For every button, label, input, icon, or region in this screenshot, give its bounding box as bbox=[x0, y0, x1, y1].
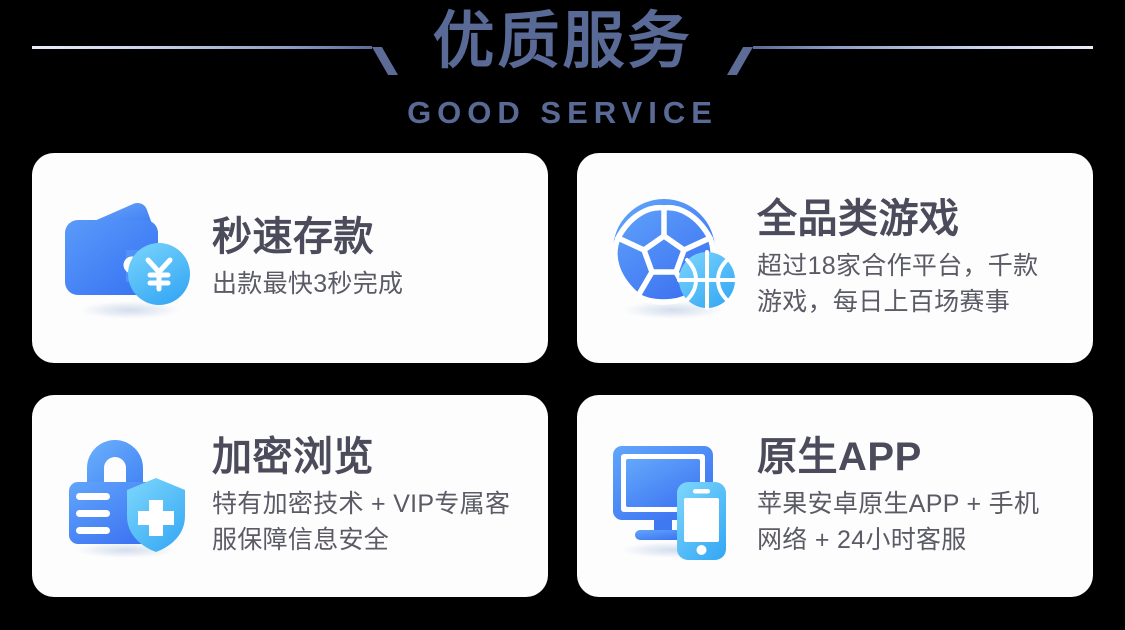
header: 优质服务 GOOD SERVICE bbox=[0, 0, 1125, 150]
feature-card-deposit[interactable]: 秒速存款 出款最快3秒完成 bbox=[32, 153, 548, 363]
promo-banner: 优质服务 GOOD SERVICE bbox=[0, 0, 1125, 630]
page-title: 优质服务 bbox=[0, 6, 1125, 77]
card-text-native-app: 原生APP 苹果安卓原生APP + 手机 网络 + 24小时客服 bbox=[757, 434, 1075, 558]
card-description: 出款最快3秒完成 bbox=[212, 267, 530, 303]
soccer-basketball-icon bbox=[605, 192, 743, 324]
card-description-line: 出款最快3秒完成 bbox=[212, 267, 530, 303]
card-title: 秒速存款 bbox=[212, 214, 530, 261]
card-text-games: 全品类游戏 超过18家合作平台，千款 游戏，每日上百场赛事 bbox=[757, 196, 1075, 320]
card-description: 特有加密技术 + VIP专属客 服保障信息安全 bbox=[212, 487, 530, 558]
wallet-yen-icon bbox=[60, 192, 198, 324]
feature-card-grid: 秒速存款 出款最快3秒完成 bbox=[32, 153, 1093, 597]
card-description: 超过18家合作平台，千款 游戏，每日上百场赛事 bbox=[757, 249, 1075, 320]
card-title: 原生APP bbox=[757, 434, 1075, 481]
card-title: 加密浏览 bbox=[212, 434, 530, 481]
card-description-line: 服保障信息安全 bbox=[212, 523, 530, 559]
card-description-line: 超过18家合作平台，千款 bbox=[757, 249, 1075, 285]
card-description-line: 苹果安卓原生APP + 手机 bbox=[757, 487, 1075, 523]
card-text-encryption: 加密浏览 特有加密技术 + VIP专属客 服保障信息安全 bbox=[212, 434, 530, 558]
card-description-line: 游戏，每日上百场赛事 bbox=[757, 285, 1075, 321]
card-description-line: 网络 + 24小时客服 bbox=[757, 523, 1075, 559]
card-text-deposit: 秒速存款 出款最快3秒完成 bbox=[212, 214, 530, 303]
card-description: 苹果安卓原生APP + 手机 网络 + 24小时客服 bbox=[757, 487, 1075, 558]
card-title: 全品类游戏 bbox=[757, 196, 1075, 243]
feature-card-encryption[interactable]: 加密浏览 特有加密技术 + VIP专属客 服保障信息安全 bbox=[32, 395, 548, 597]
feature-card-games[interactable]: 全品类游戏 超过18家合作平台，千款 游戏，每日上百场赛事 bbox=[577, 153, 1093, 363]
card-description-line: 特有加密技术 + VIP专属客 bbox=[212, 487, 530, 523]
lock-shield-icon bbox=[60, 430, 198, 562]
page-subtitle: GOOD SERVICE bbox=[0, 96, 1125, 130]
feature-card-native-app[interactable]: 原生APP 苹果安卓原生APP + 手机 网络 + 24小时客服 bbox=[577, 395, 1093, 597]
monitor-phone-icon bbox=[605, 430, 743, 562]
